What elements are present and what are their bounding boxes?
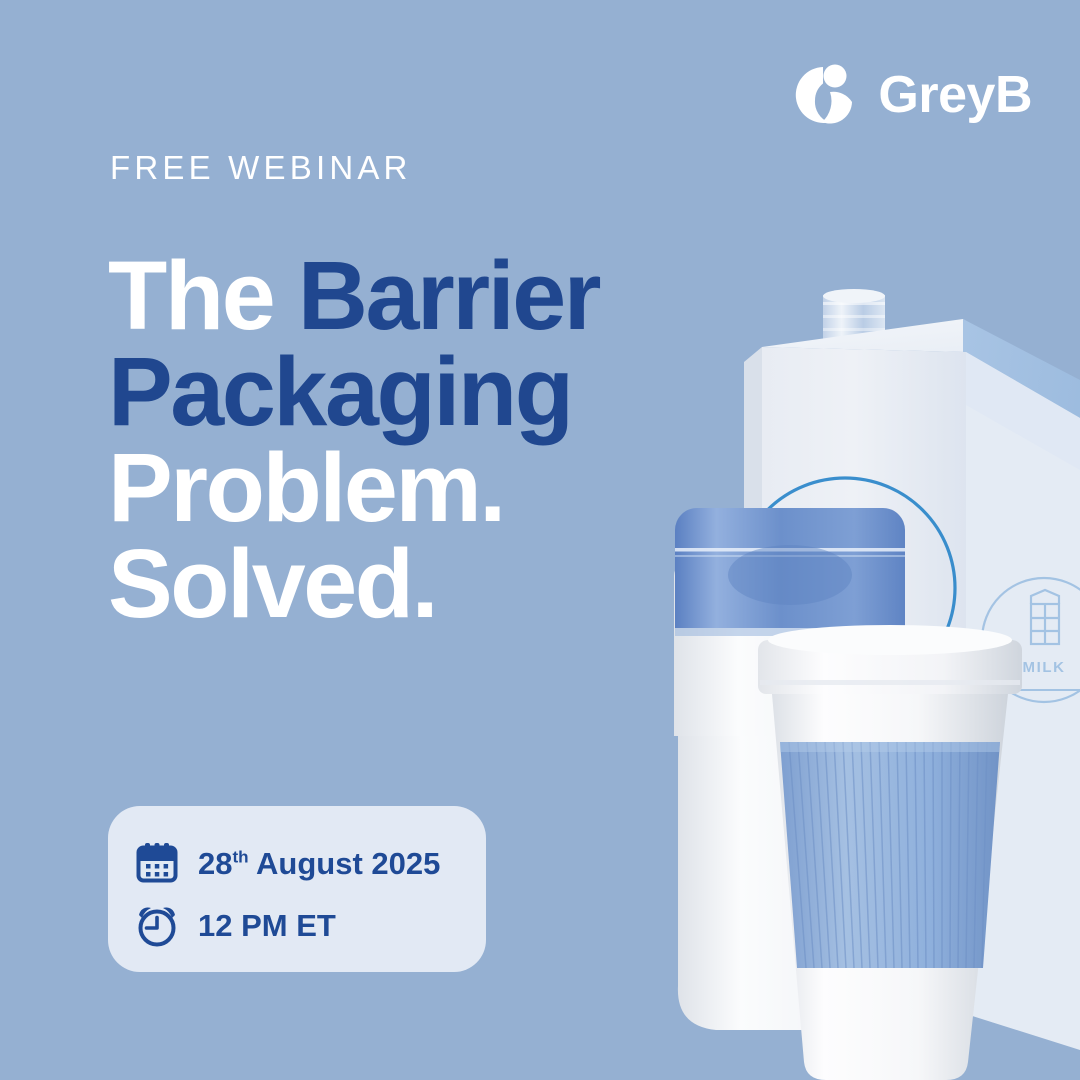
headline-line-1: The Barrier — [108, 248, 748, 344]
headline-the: The — [108, 241, 298, 350]
calendar-icon — [134, 840, 180, 886]
svg-text:MILK: MILK — [1022, 659, 1065, 676]
brand-logo[interactable]: GreyB — [790, 59, 1032, 131]
event-date-row: 28th August 2025 — [134, 832, 486, 894]
headline-line-4: Solved. — [108, 536, 748, 632]
brand-name: GreyB — [878, 69, 1032, 121]
headline-line-3: Problem. — [108, 440, 748, 536]
greyb-logo-mark — [790, 59, 862, 131]
headline-line-2: Packaging — [108, 344, 748, 440]
event-time-text: 12 PM ET — [198, 910, 336, 941]
event-date-ordinal: th — [232, 847, 248, 866]
event-date-rest: August 2025 — [249, 846, 441, 881]
cup-sleeve — [780, 742, 1000, 968]
alarm-clock-icon — [134, 902, 180, 948]
page-title: The Barrier Packaging Problem. Solved. — [108, 248, 748, 632]
event-date-day: 28 — [198, 846, 232, 881]
eyebrow-label: FREE WEBINAR — [110, 151, 412, 184]
webinar-poster: ritional Facts g Size 1 Serving (8ml) g … — [0, 0, 1080, 1080]
event-date-text: 28th August 2025 — [198, 848, 440, 879]
event-details-card: 28th August 2025 12 PM ET — [108, 806, 486, 972]
event-time-row: 12 PM ET — [134, 894, 486, 956]
headline-barrier: Barrier — [298, 241, 599, 350]
